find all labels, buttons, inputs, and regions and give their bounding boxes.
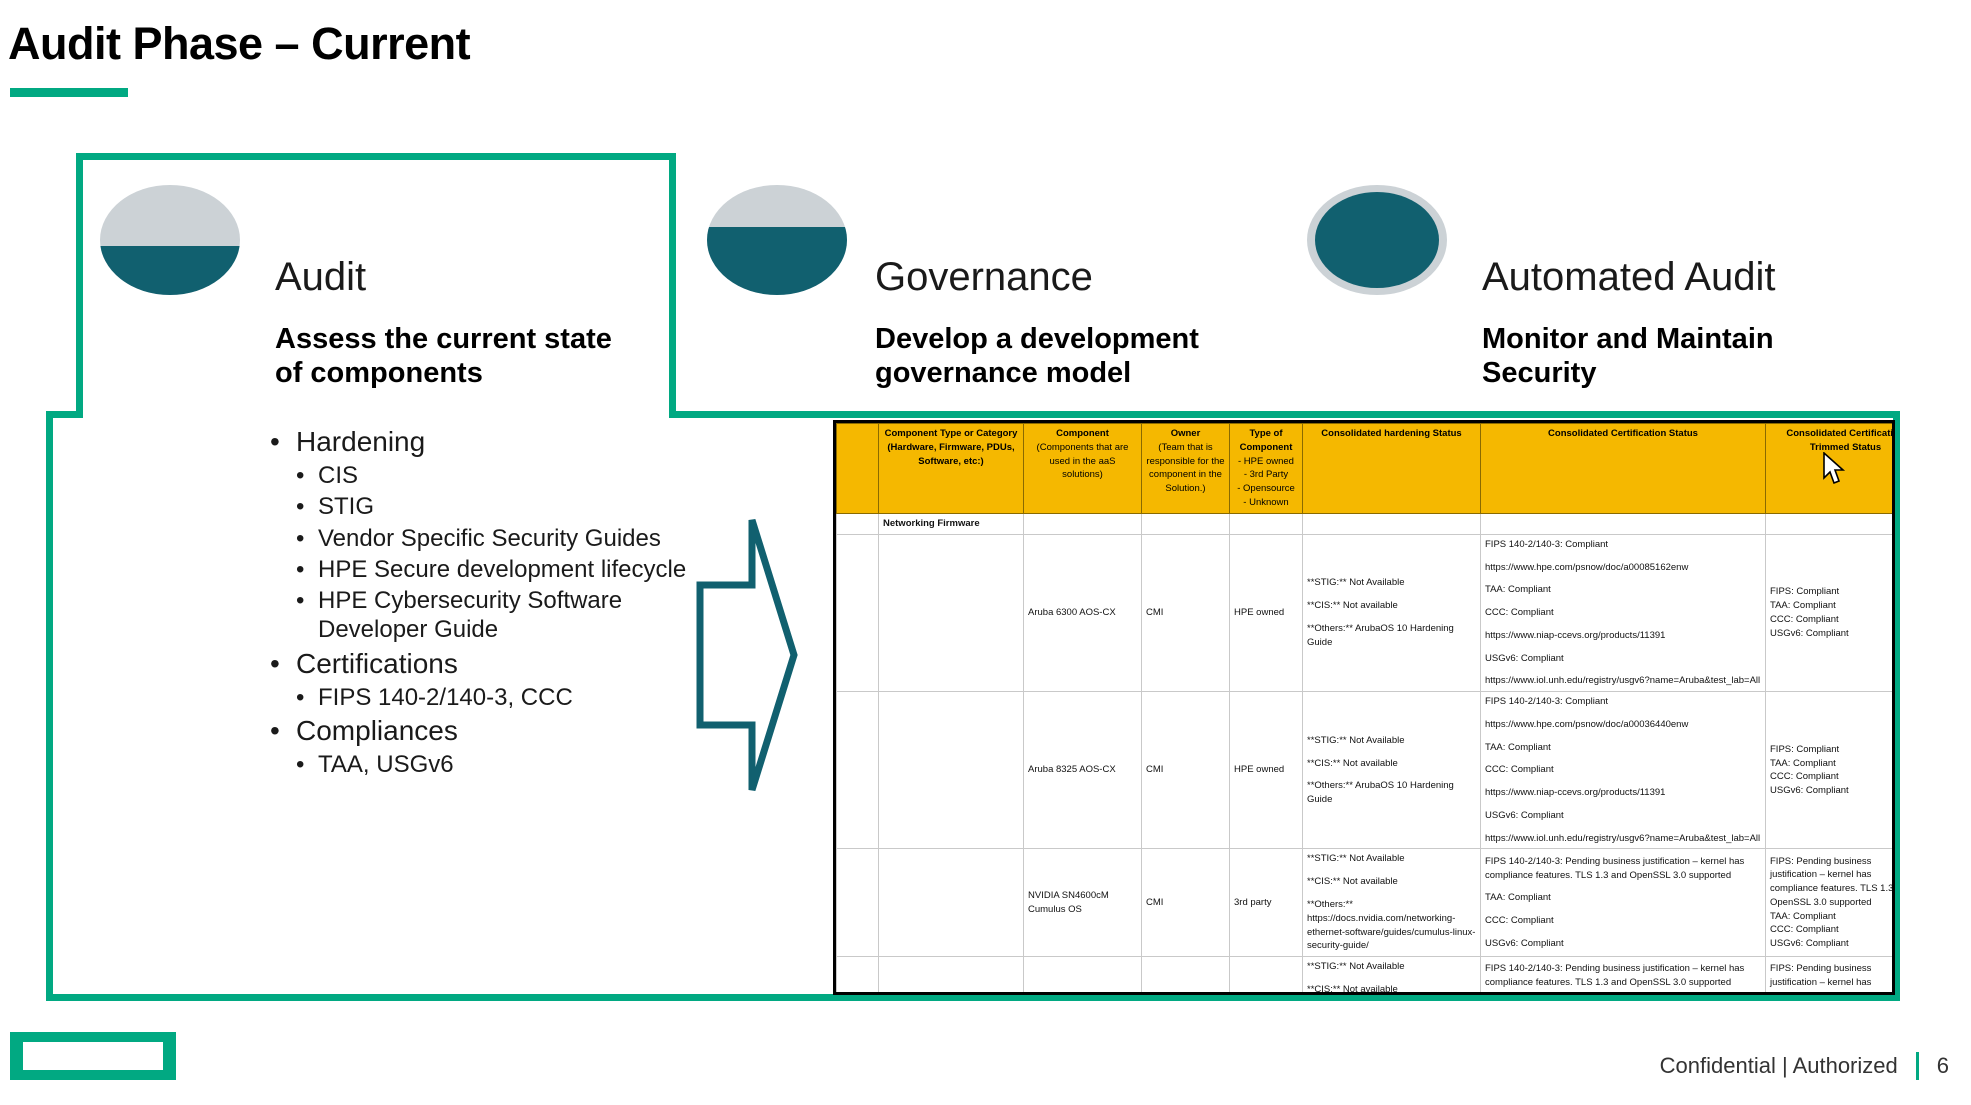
phase-audit-subtitle-2: of components	[275, 356, 612, 390]
automated-audit-progress-circle-icon	[1307, 185, 1447, 295]
hardening-status-cell: **STIG:** Not Available**CIS:** Not avai…	[1303, 534, 1481, 691]
certification-trimmed-status-cell: FIPS: Pending business justification – k…	[1766, 849, 1896, 957]
bullet-item-level-1: •Certifications	[270, 647, 690, 681]
row-index-cell	[837, 849, 879, 957]
bullet-text: Compliances	[296, 714, 458, 748]
phase-audit-subtitle-1: Assess the current state	[275, 322, 612, 356]
table-header-row: Component Type or Category (Hardware, Fi…	[837, 424, 1896, 514]
table-row[interactable]: Aruba 6300 AOS-CXCMIHPE owned**STIG:** N…	[837, 534, 1896, 691]
bullet-dot-icon: •	[296, 683, 318, 712]
phase-audit	[100, 185, 240, 295]
bullet-item-level-2: •HPE Cybersecurity Software Developer Gu…	[296, 586, 690, 645]
hpe-logo-icon	[10, 1032, 176, 1080]
type-of-component-cell: HPE owned	[1230, 534, 1303, 691]
type-of-component-cell: 3rd party	[1230, 957, 1303, 995]
bullet-item-level-2: •STIG	[296, 492, 690, 521]
bullet-item-level-1: •Hardening	[270, 425, 690, 459]
bullet-text: Hardening	[296, 425, 425, 459]
bullet-item-level-2: •HPE Secure development lifecycle	[296, 555, 690, 584]
component-cell: Aruba 8325 AOS-CX	[1024, 692, 1142, 849]
bullet-item-level-2: •Vendor Specific Security Guides	[296, 524, 690, 553]
bullet-text: TAA, USGv6	[318, 750, 454, 779]
right-arrow-icon	[690, 510, 800, 805]
component-cell: NVIDIA SN4600cM Cumulus OS	[1024, 849, 1142, 957]
certification-status-cell: FIPS 140-2/140-3: Pending business justi…	[1481, 849, 1766, 957]
component-type-cell	[879, 692, 1024, 849]
phase-governance-name: Governance	[875, 255, 1199, 300]
certification-status-cell: FIPS 140-2/140-3: Complianthttps://www.h…	[1481, 692, 1766, 849]
empty-cell	[1303, 514, 1481, 535]
footer: Confidential | Authorized 6	[1660, 1052, 1949, 1080]
row-index-cell	[837, 692, 879, 849]
empty-cell	[1142, 514, 1230, 535]
components-table: Component Type or Category (Hardware, Fi…	[836, 423, 1895, 995]
bullet-text: CIS	[318, 461, 358, 490]
table-body: Networking FirmwareAruba 6300 AOS-CXCMIH…	[837, 514, 1896, 996]
phase-audit-text: Audit Assess the current state of compon…	[275, 255, 612, 390]
bullet-item-level-2: •FIPS 140-2/140-3, CCC	[296, 683, 690, 712]
bullet-item-level-1: •Compliances	[270, 714, 690, 748]
audit-progress-circle-icon	[100, 185, 240, 295]
phase-governance-subtitle-1: Develop a development	[875, 322, 1199, 356]
empty-cell	[1230, 514, 1303, 535]
footer-page-number: 6	[1937, 1053, 1949, 1079]
bullet-dot-icon: •	[296, 555, 318, 584]
empty-cell	[1024, 514, 1142, 535]
phase-automated-audit-subtitle-1: Monitor and Maintain	[1482, 322, 1776, 356]
table-row[interactable]: NVIDIA SN4600cM Cumulus OSCMI3rd party**…	[837, 849, 1896, 957]
bullet-text: HPE Secure development lifecycle	[318, 555, 686, 584]
certification-status-cell: FIPS 140-2/140-3: Complianthttps://www.h…	[1481, 534, 1766, 691]
bullet-text: STIG	[318, 492, 374, 521]
table-row[interactable]: NVIDIA SN4700M Cumulus OSCMI3rd party**S…	[837, 957, 1896, 995]
type-of-component-cell: HPE owned	[1230, 692, 1303, 849]
table-header-hardening-status: Consolidated hardening Status	[1303, 424, 1481, 514]
component-type-cell	[879, 957, 1024, 995]
table-header-component-type: Component Type or Category (Hardware, Fi…	[879, 424, 1024, 514]
hardening-status-cell: **STIG:** Not Available**CIS:** Not avai…	[1303, 849, 1481, 957]
phase-automated-audit-text: Automated Audit Monitor and Maintain Sec…	[1482, 255, 1776, 390]
table-header-type-of-component: Type of Component - HPE owned - 3rd Part…	[1230, 424, 1303, 514]
title-accent-rule	[10, 88, 128, 97]
bullet-dot-icon: •	[296, 586, 318, 645]
table-category-row[interactable]: Networking Firmware	[837, 514, 1896, 535]
frame-gap	[83, 404, 669, 420]
certification-trimmed-status-cell: FIPS: CompliantTAA: CompliantCCC: Compli…	[1766, 534, 1896, 691]
certification-trimmed-status-cell: FIPS: CompliantTAA: CompliantCCC: Compli…	[1766, 692, 1896, 849]
hardening-status-cell: **STIG:** Not Available**CIS:** Not avai…	[1303, 692, 1481, 849]
bullet-dot-icon: •	[296, 492, 318, 521]
footer-classification: Confidential | Authorized	[1660, 1053, 1898, 1079]
bullet-text: Certifications	[296, 647, 458, 681]
bullet-dot-icon: •	[270, 425, 296, 459]
phase-automated-audit	[1307, 185, 1447, 295]
owner-cell: CMI	[1142, 849, 1230, 957]
table-header-component: Component (Components that are used in t…	[1024, 424, 1142, 514]
table-row[interactable]: Aruba 8325 AOS-CXCMIHPE owned**STIG:** N…	[837, 692, 1896, 849]
phase-governance-text: Governance Develop a development governa…	[875, 255, 1199, 390]
category-label: Networking Firmware	[879, 514, 1024, 535]
owner-cell: CMI	[1142, 957, 1230, 995]
table-header-blank	[837, 424, 879, 514]
empty-cell	[1481, 514, 1766, 535]
table-header-owner: Owner (Team that is responsible for the …	[1142, 424, 1230, 514]
bullet-text: FIPS 140-2/140-3, CCC	[318, 683, 573, 712]
bullet-dot-icon: •	[296, 524, 318, 553]
bullet-text: Vendor Specific Security Guides	[318, 524, 661, 553]
certification-trimmed-status-cell: FIPS: Pending business justification – k…	[1766, 957, 1896, 995]
bullet-dot-icon: •	[270, 647, 296, 681]
table-header-certification-status: Consolidated Certification Status	[1481, 424, 1766, 514]
bullet-dot-icon: •	[296, 461, 318, 490]
bullet-text: HPE Cybersecurity Software Developer Gui…	[318, 586, 690, 645]
bullet-dot-icon: •	[296, 750, 318, 779]
owner-cell: CMI	[1142, 692, 1230, 849]
certification-status-cell: FIPS 140-2/140-3: Pending business justi…	[1481, 957, 1766, 995]
phase-automated-audit-subtitle-2: Security	[1482, 356, 1776, 390]
bullet-dot-icon: •	[270, 714, 296, 748]
owner-cell: CMI	[1142, 534, 1230, 691]
row-index-cell	[837, 534, 879, 691]
empty-cell	[1766, 514, 1896, 535]
phase-automated-audit-name: Automated Audit	[1482, 255, 1776, 300]
component-cell: Aruba 6300 AOS-CX	[1024, 534, 1142, 691]
phase-governance-subtitle-2: governance model	[875, 356, 1199, 390]
row-index-cell	[837, 514, 879, 535]
type-of-component-cell: 3rd party	[1230, 849, 1303, 957]
component-cell: NVIDIA SN4700M Cumulus OS	[1024, 957, 1142, 995]
footer-divider	[1916, 1052, 1919, 1080]
component-type-cell	[879, 534, 1024, 691]
bullet-item-level-2: •CIS	[296, 461, 690, 490]
governance-progress-circle-icon	[707, 185, 847, 295]
components-table-container[interactable]: Component Type or Category (Hardware, Fi…	[833, 420, 1895, 995]
audit-bullet-list: •Hardening•CIS•STIG•Vendor Specific Secu…	[270, 425, 690, 782]
hardening-status-cell: **STIG:** Not Available**CIS:** Not avai…	[1303, 957, 1481, 995]
bullet-item-level-2: •TAA, USGv6	[296, 750, 690, 779]
row-index-cell	[837, 957, 879, 995]
phase-audit-name: Audit	[275, 255, 612, 300]
component-type-cell	[879, 849, 1024, 957]
mouse-cursor-icon	[1822, 452, 1848, 493]
page-title: Audit Phase – Current	[8, 18, 470, 70]
phase-governance	[707, 185, 847, 295]
